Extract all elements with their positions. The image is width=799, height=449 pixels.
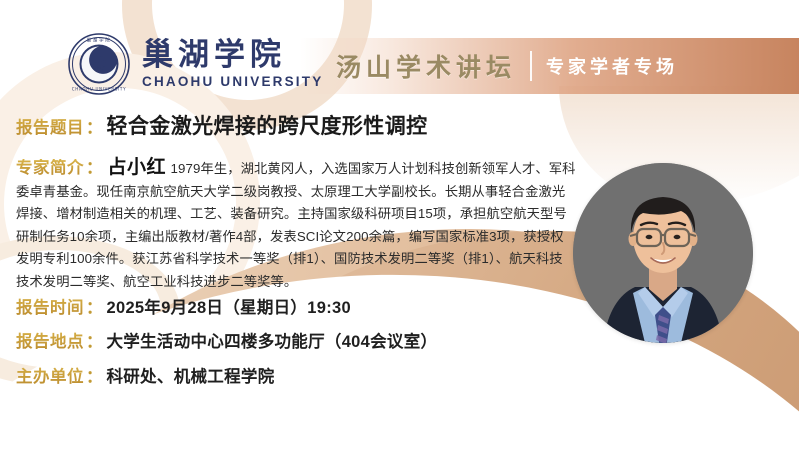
svg-text:巢湖学院: 巢湖学院	[87, 37, 112, 44]
speaker-bio-label: 专家简介	[16, 159, 84, 177]
organizer-row: 主办单位 ： 科研处、机械工程学院	[16, 363, 275, 387]
university-name-block: 巢湖学院 CHAOHU UNIVERSITY	[142, 38, 323, 90]
report-place-colon: ：	[86, 328, 103, 352]
university-name-en: CHAOHU UNIVERSITY	[142, 74, 323, 90]
report-time-colon: ：	[86, 294, 103, 318]
speaker-bio-text: 1979年生，湖北黄冈人，入选国家万人计划科技创新领军人才、军科委卓青基金。现任…	[16, 161, 576, 289]
banner-title: 汤山学术讲坛	[336, 48, 516, 84]
report-title-label: 报告题目	[16, 114, 84, 138]
report-time-row: 报告时间 ： 2025年9月28日（星期日）19:30	[16, 294, 351, 318]
report-title-value: 轻合金激光焊接的跨尺度形性调控	[107, 110, 428, 140]
banner: 汤山学术讲坛 专家学者专场	[300, 38, 799, 94]
organizer-value: 科研处、机械工程学院	[107, 363, 275, 387]
lecture-poster: 汤山学术讲坛 专家学者专场 1977 巢湖学院 CHAOHU UNIVERSIT…	[0, 0, 799, 449]
university-name-cn: 巢湖学院	[142, 38, 323, 73]
report-title-colon: ：	[86, 114, 103, 138]
banner-divider-icon	[530, 51, 532, 81]
speaker-portrait-photo	[573, 163, 753, 343]
speaker-name: 占小红	[108, 157, 167, 178]
speaker-bio-colon: ：	[86, 159, 103, 177]
speaker-bio-row: 专家简介：占小红 1979年生，湖北黄冈人，入选国家万人计划科技创新领军人才、军…	[16, 152, 576, 293]
banner-subtitle: 专家学者专场	[546, 53, 678, 79]
speaker-bio-block: 专家简介：占小红 1979年生，湖北黄冈人，入选国家万人计划科技创新领军人才、军…	[16, 152, 576, 293]
report-title-row: 报告题目 ： 轻合金激光焊接的跨尺度形性调控	[16, 110, 428, 140]
report-time-value: 2025年9月28日（星期日）19:30	[107, 294, 351, 318]
university-seal-icon: 1977 巢湖学院 CHAOHU UNIVERSITY	[68, 33, 130, 95]
report-place-value: 大学生活动中心四楼多功能厅（404会议室）	[107, 328, 438, 352]
report-place-label: 报告地点	[16, 328, 84, 352]
svg-text:1977: 1977	[94, 65, 105, 70]
organizer-label: 主办单位	[16, 363, 84, 387]
svg-text:CHAOHU UNIVERSITY: CHAOHU UNIVERSITY	[72, 87, 126, 92]
report-time-label: 报告时间	[16, 294, 84, 318]
organizer-colon: ：	[86, 363, 103, 387]
university-logo: 1977 巢湖学院 CHAOHU UNIVERSITY 巢湖学院 CHAOHU …	[68, 33, 323, 95]
report-place-row: 报告地点 ： 大学生活动中心四楼多功能厅（404会议室）	[16, 328, 437, 352]
